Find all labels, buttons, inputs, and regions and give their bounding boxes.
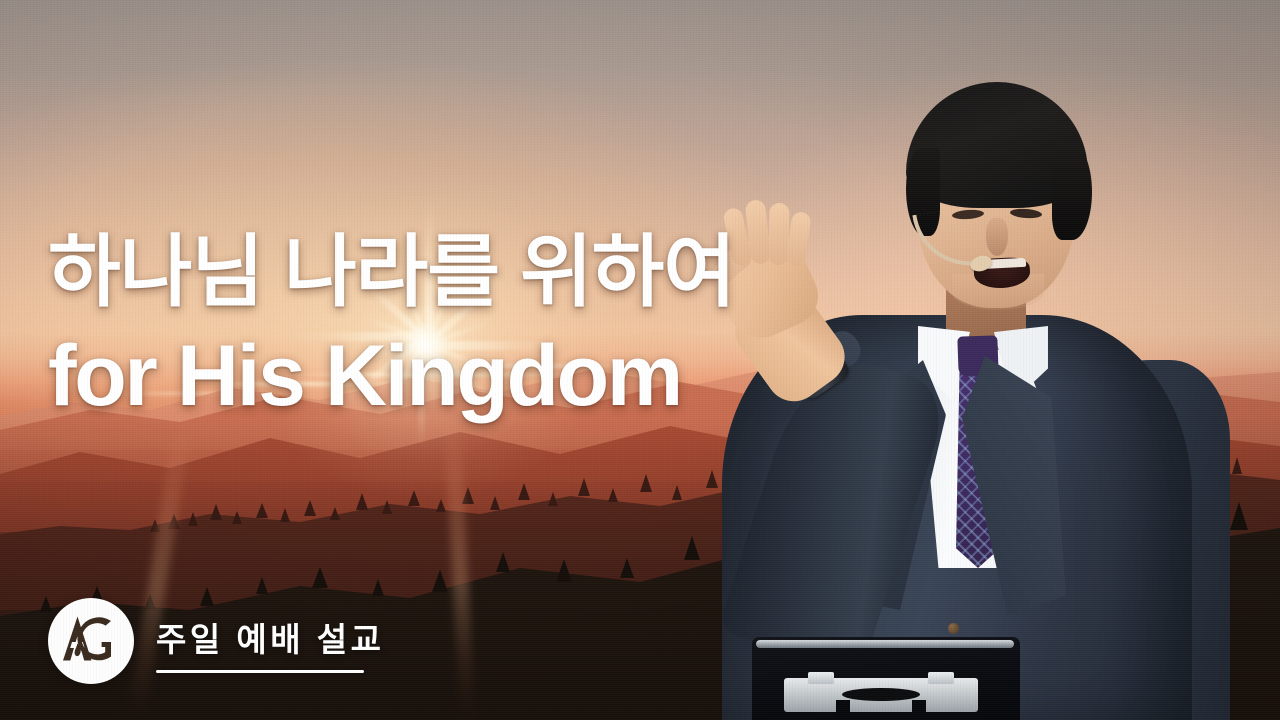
hair-side-right xyxy=(1052,144,1092,240)
tablet-stand-gap-left xyxy=(836,700,850,720)
series-label-block: 주일 예배 설교 xyxy=(156,609,385,673)
title-block: 하나님 나라를 위하여 for His Kingdom xyxy=(48,232,735,419)
ag-monogram-icon xyxy=(48,598,134,684)
podium-screw xyxy=(948,623,959,634)
ag-logo xyxy=(48,598,134,684)
tablet-stand-slot xyxy=(842,688,920,701)
tablet-stand-notch-right xyxy=(928,672,954,684)
series-label: 주일 예배 설교 xyxy=(156,613,385,661)
tablet-stand-notch-left xyxy=(808,672,834,684)
podium-top-rim xyxy=(756,640,1014,648)
tablet-stand-gap-right xyxy=(912,700,926,720)
title-english: for His Kingdom xyxy=(48,333,735,419)
finger xyxy=(785,211,811,267)
brand-footer: 주일 예배 설교 xyxy=(48,598,385,684)
series-label-underline xyxy=(156,670,364,673)
sermon-thumbnail: 하나님 나라를 위하여 for His Kingdom 주일 예배 설교 xyxy=(0,0,1280,720)
title-korean: 하나님 나라를 위하여 xyxy=(48,232,735,311)
